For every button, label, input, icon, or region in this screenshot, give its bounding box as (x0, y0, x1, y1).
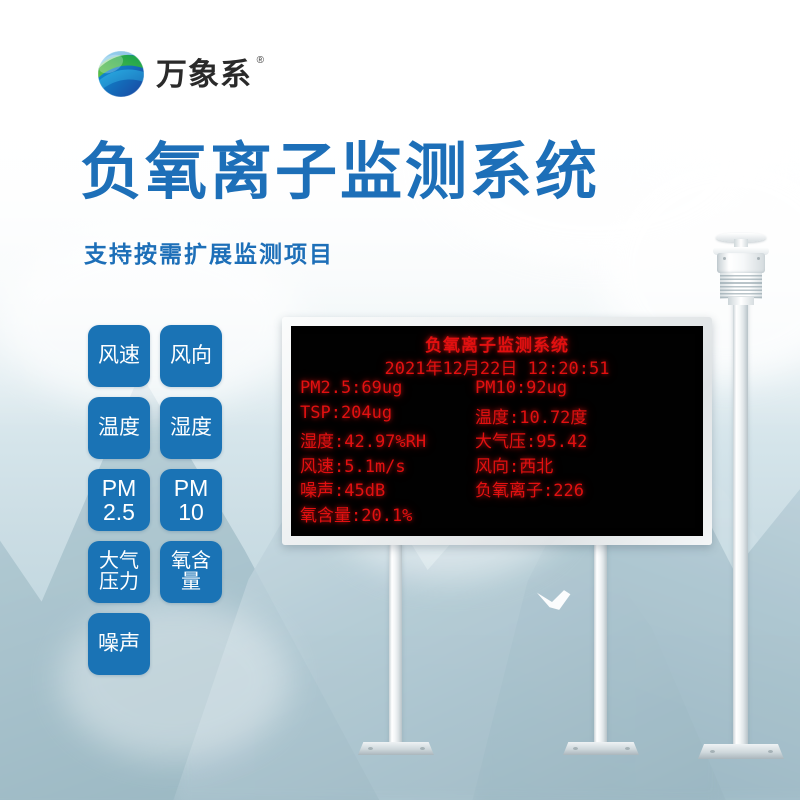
brand-name: 万象系 ® (156, 59, 252, 90)
page-title: 负氧离子监测系统 (80, 141, 600, 203)
badge-oxygen-content[interactable]: 氧含量 (160, 541, 222, 603)
led-datetime: 2021年12月22日 12:20:51 (291, 354, 703, 379)
badge-label: 温度 (98, 417, 140, 439)
led-readings: PM2.5:69ug PM10:92ug TSP:204ug 温度:10.72度… (300, 378, 697, 525)
sensor-body (717, 253, 765, 273)
badge-row: 温度 湿度 (88, 397, 248, 459)
badge-label: 风向 (170, 345, 212, 367)
badge-row: PM2.5 PM10 (88, 469, 248, 531)
led-reading-row: 湿度:42.97%RH 大气压:95.42 (300, 427, 697, 452)
badge-row: 大气压力 氧含量 (88, 541, 248, 603)
badge-label: PM (102, 476, 137, 500)
bolt-icon (768, 750, 773, 753)
badge-row: 风速 风向 (88, 325, 248, 387)
led-reading-row: PM2.5:69ug PM10:92ug (300, 378, 697, 403)
badge-label: 大气 (99, 551, 139, 572)
radiation-shield-icon (720, 273, 762, 299)
led-reading-pressure: 大气压:95.42 (475, 427, 675, 452)
bolt-icon (710, 750, 715, 753)
support-pole-icon (594, 543, 607, 746)
badge-label: 压力 (99, 572, 139, 593)
led-reading-wind-dir: 风向:西北 (475, 452, 675, 477)
badge-row: 噪声 (88, 613, 248, 675)
led-reading-noise: 噪声:45dB (300, 476, 475, 501)
weather-sensor-head-icon (710, 233, 772, 305)
badge-label: 风速 (98, 345, 140, 367)
led-screen: 负氧离子监测系统 2021年12月22日 12:20:51 PM2.5:69ug… (291, 326, 703, 536)
led-reading-pm10: PM10:92ug (475, 378, 675, 398)
led-reading-tsp: TSP:204ug (300, 403, 475, 423)
badge-label: 2.5 (102, 500, 137, 524)
led-reading-anion: 负氧离子:226 (475, 476, 675, 501)
badge-label: 10 (174, 500, 209, 524)
led-reading-row: 噪声:45dB 负氧离子:226 (300, 476, 697, 501)
badge-label: 湿度 (170, 417, 212, 439)
bolt-icon (368, 747, 373, 750)
led-reading-row: 氧含量:20.1% (300, 501, 697, 526)
bolt-icon (420, 747, 425, 750)
led-reading-oxygen: 氧含量:20.1% (300, 501, 475, 526)
led-title: 负氧离子监测系统 (291, 331, 703, 356)
feature-badge-group: 风速 风向 温度 湿度 PM2.5 PM10 大气压力 氧含量 噪声 (88, 325, 248, 685)
poster-canvas: 万象系 ® 负氧离子监测系统 支持按需扩展监测项目 风速 风向 温度 湿度 PM… (0, 0, 800, 800)
page-subtitle: 支持按需扩展监测项目 (84, 243, 334, 266)
badge-pm25[interactable]: PM2.5 (88, 469, 150, 531)
badge-wind-speed[interactable]: 风速 (88, 325, 150, 387)
led-display-board[interactable]: 负氧离子监测系统 2021年12月22日 12:20:51 PM2.5:69ug… (282, 317, 712, 545)
badge-wind-direction[interactable]: 风向 (160, 325, 222, 387)
badge-humidity[interactable]: 湿度 (160, 397, 222, 459)
brand-name-text: 万象系 (156, 57, 252, 92)
led-reading-row: TSP:204ug 温度:10.72度 (300, 403, 697, 428)
badge-air-pressure[interactable]: 大气压力 (88, 541, 150, 603)
led-reading-temp: 温度:10.72度 (475, 403, 675, 428)
bolt-icon (757, 257, 760, 260)
sensor-foot (728, 297, 754, 305)
bolt-icon (573, 747, 578, 750)
led-reading-wind-speed: 风速:5.1m/s (300, 452, 475, 477)
brand-logo: 万象系 ® (95, 48, 252, 100)
led-reading-pm25: PM2.5:69ug (300, 378, 475, 398)
badge-label: 噪声 (98, 633, 140, 655)
badge-temperature[interactable]: 温度 (88, 397, 150, 459)
led-reading-humidity: 湿度:42.97%RH (300, 427, 475, 452)
bolt-icon (723, 257, 726, 260)
bolt-icon (625, 747, 630, 750)
support-pole-icon (389, 543, 402, 746)
sensor-mast-icon (733, 296, 748, 750)
badge-label: PM (174, 476, 209, 500)
led-reading-row: 风速:5.1m/s 风向:西北 (300, 452, 697, 477)
badge-label: 氧含 (171, 551, 211, 572)
globe-swirl-logo-icon (95, 48, 147, 100)
badge-pm10[interactable]: PM10 (160, 469, 222, 531)
badge-noise[interactable]: 噪声 (88, 613, 150, 675)
badge-label: 量 (171, 572, 211, 593)
registered-mark: ® (257, 56, 265, 66)
